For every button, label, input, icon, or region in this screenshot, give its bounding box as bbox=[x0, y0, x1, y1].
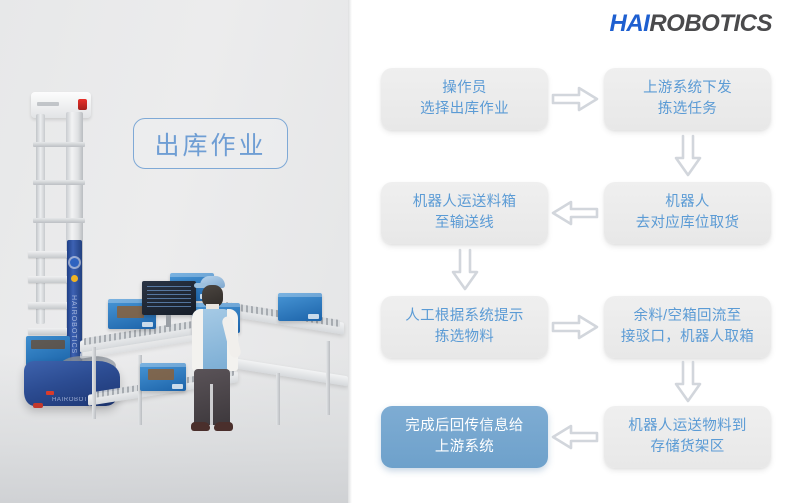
section-title-badge: 出库作业 bbox=[133, 118, 288, 169]
robot-head-logo bbox=[37, 102, 59, 106]
robot-warning-dot bbox=[71, 275, 78, 282]
tote-label bbox=[172, 384, 183, 389]
robot-shelf bbox=[28, 302, 72, 309]
flow-node-label: 上游系统下发 拣选任务 bbox=[643, 78, 732, 120]
operator-shoe bbox=[214, 422, 233, 431]
carton-in-tote bbox=[117, 306, 144, 318]
robot-status-dot bbox=[70, 258, 79, 267]
flow-arrow-left-icon bbox=[551, 198, 601, 228]
flow-arrow-right-icon bbox=[551, 84, 601, 114]
monitor-stand bbox=[166, 315, 171, 327]
flow-node-robot-to-conveyor[interactable]: 机器人运送料箱 至输送线 bbox=[381, 182, 548, 244]
operator-shoe bbox=[191, 422, 210, 431]
flow-arrow-left-icon bbox=[551, 422, 601, 452]
operator-vest-left bbox=[192, 309, 203, 371]
tote-lip bbox=[278, 293, 322, 297]
robot-shelf bbox=[28, 251, 72, 258]
flow-node-robot-to-storage[interactable]: 机器人运送物料到 存储货架区 bbox=[604, 406, 771, 468]
robot-shelf bbox=[28, 328, 72, 335]
flow-node-label: 机器人运送料箱 至输送线 bbox=[413, 192, 517, 234]
process-flowchart: 操作员 选择出库作业 上游系统下发 拣选任务 机器人运送料箱 至输送线 机器人 … bbox=[352, 0, 800, 503]
tote-label bbox=[142, 322, 153, 327]
flow-node-label: 完成后回传信息给 上游系统 bbox=[405, 416, 523, 458]
slide-root: HAIROBOTICS HAIROBOTICS bbox=[0, 0, 800, 503]
robot-indicator-light bbox=[78, 99, 87, 110]
robot-column-branding: HAIROBOTICS bbox=[70, 295, 77, 354]
robot-shelf bbox=[28, 276, 72, 283]
return-conveyor-frame-right bbox=[230, 358, 348, 387]
robot-rail bbox=[33, 218, 85, 223]
tote-bin bbox=[278, 293, 322, 321]
flow-node-label: 余料/空箱回流至 接驳口，机器人取箱 bbox=[621, 306, 754, 348]
section-title-text: 出库作业 bbox=[154, 126, 266, 162]
flow-arrow-down-icon bbox=[450, 248, 480, 292]
flow-node-label: 机器人运送物料到 存储货架区 bbox=[628, 416, 746, 458]
tote-label bbox=[308, 314, 319, 319]
flow-node-report-upstream[interactable]: 完成后回传信息给 上游系统 bbox=[381, 406, 548, 468]
flow-node-label: 人工根据系统提示 拣选物料 bbox=[405, 306, 523, 348]
warehouse-operator-figure bbox=[186, 276, 238, 436]
flow-node-operator-select[interactable]: 操作员 选择出库作业 bbox=[381, 68, 548, 130]
flow-node-label: 机器人 去对应库位取货 bbox=[636, 192, 740, 234]
robot-rail bbox=[33, 142, 85, 147]
flow-node-robot-retrieve[interactable]: 机器人 去对应库位取货 bbox=[604, 182, 771, 244]
product-illustration-panel: HAIROBOTICS HAIROBOTICS bbox=[0, 0, 352, 503]
robot-chassis-light bbox=[33, 403, 43, 408]
tote-bin bbox=[140, 363, 186, 391]
flow-arrow-down-icon bbox=[673, 134, 703, 178]
conveyor-leg bbox=[92, 347, 96, 419]
flow-arrow-right-icon bbox=[551, 312, 601, 342]
tote-lip bbox=[140, 363, 186, 367]
flow-node-upstream-dispatch[interactable]: 上游系统下发 拣选任务 bbox=[604, 68, 771, 130]
monitor-screen-content bbox=[147, 286, 191, 310]
carton-in-tote bbox=[148, 369, 174, 380]
conveyor-leg bbox=[276, 373, 280, 425]
conveyor-leg bbox=[326, 341, 330, 415]
operator-leg-gap bbox=[210, 384, 213, 425]
robot-rail bbox=[33, 180, 85, 185]
flow-node-return-empty-tote[interactable]: 余料/空箱回流至 接驳口，机器人取箱 bbox=[604, 296, 771, 358]
robot-chassis-light bbox=[46, 391, 54, 395]
flow-node-label: 操作员 选择出库作业 bbox=[420, 78, 509, 120]
flow-node-manual-pick[interactable]: 人工根据系统提示 拣选物料 bbox=[381, 296, 548, 358]
flow-arrow-down-icon bbox=[673, 360, 703, 404]
